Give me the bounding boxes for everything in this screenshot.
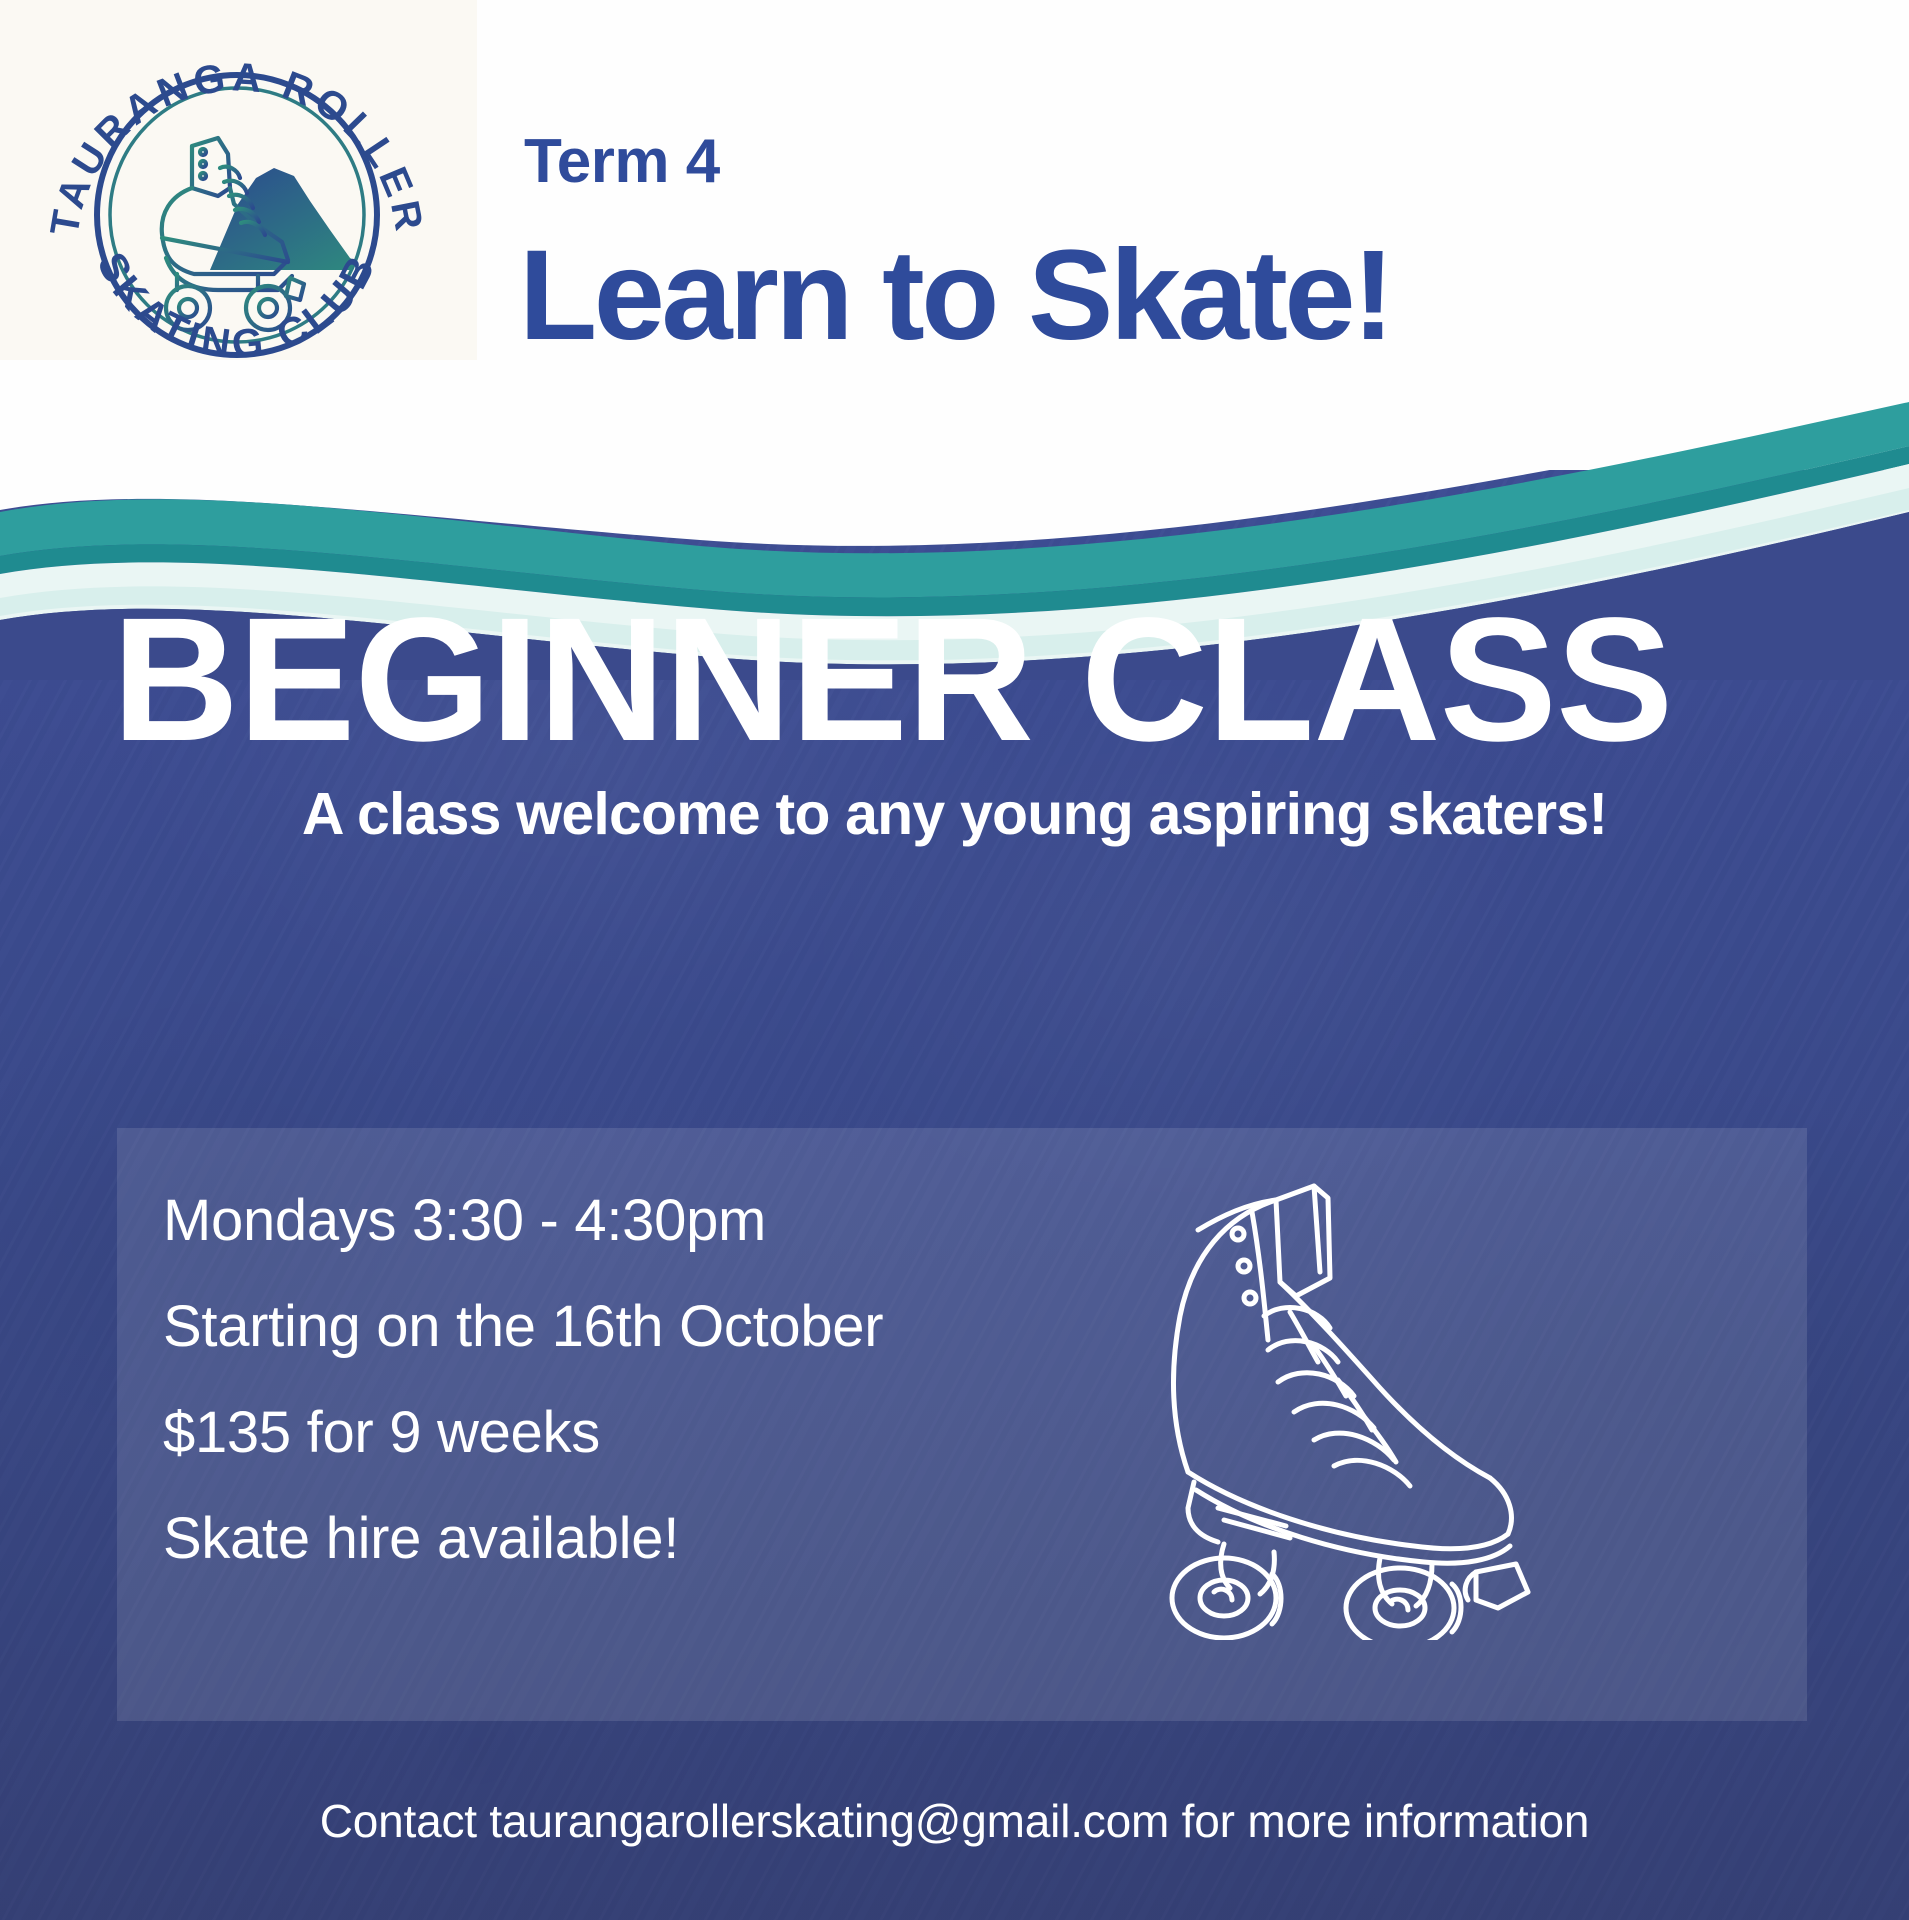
detail-schedule: Mondays 3:30 - 4:30pm [163, 1192, 1123, 1250]
term-label: Term 4 [524, 126, 720, 197]
main-subheading: A class welcome to any young aspiring sk… [0, 780, 1909, 848]
club-logo: TAURANGA ROLLER SKATING CLUB [42, 18, 432, 408]
class-details-list: Mondays 3:30 - 4:30pm Starting on the 16… [163, 1192, 1123, 1568]
detail-price: $135 for 9 weeks [163, 1404, 1123, 1462]
page-title: Learn to Skate! [519, 232, 1391, 360]
detail-skate-hire: Skate hire available! [163, 1510, 1123, 1568]
flyer-poster: TAURANGA ROLLER SKATING CLUB Term 4 Lear… [0, 0, 1909, 1920]
main-heading: BEGINNER CLASS [112, 592, 1812, 768]
roller-skate-icon [1028, 1160, 1568, 1640]
detail-start-date: Starting on the 16th October [163, 1298, 1123, 1356]
contact-footer: Contact taurangarollerskating@gmail.com … [0, 1794, 1909, 1848]
